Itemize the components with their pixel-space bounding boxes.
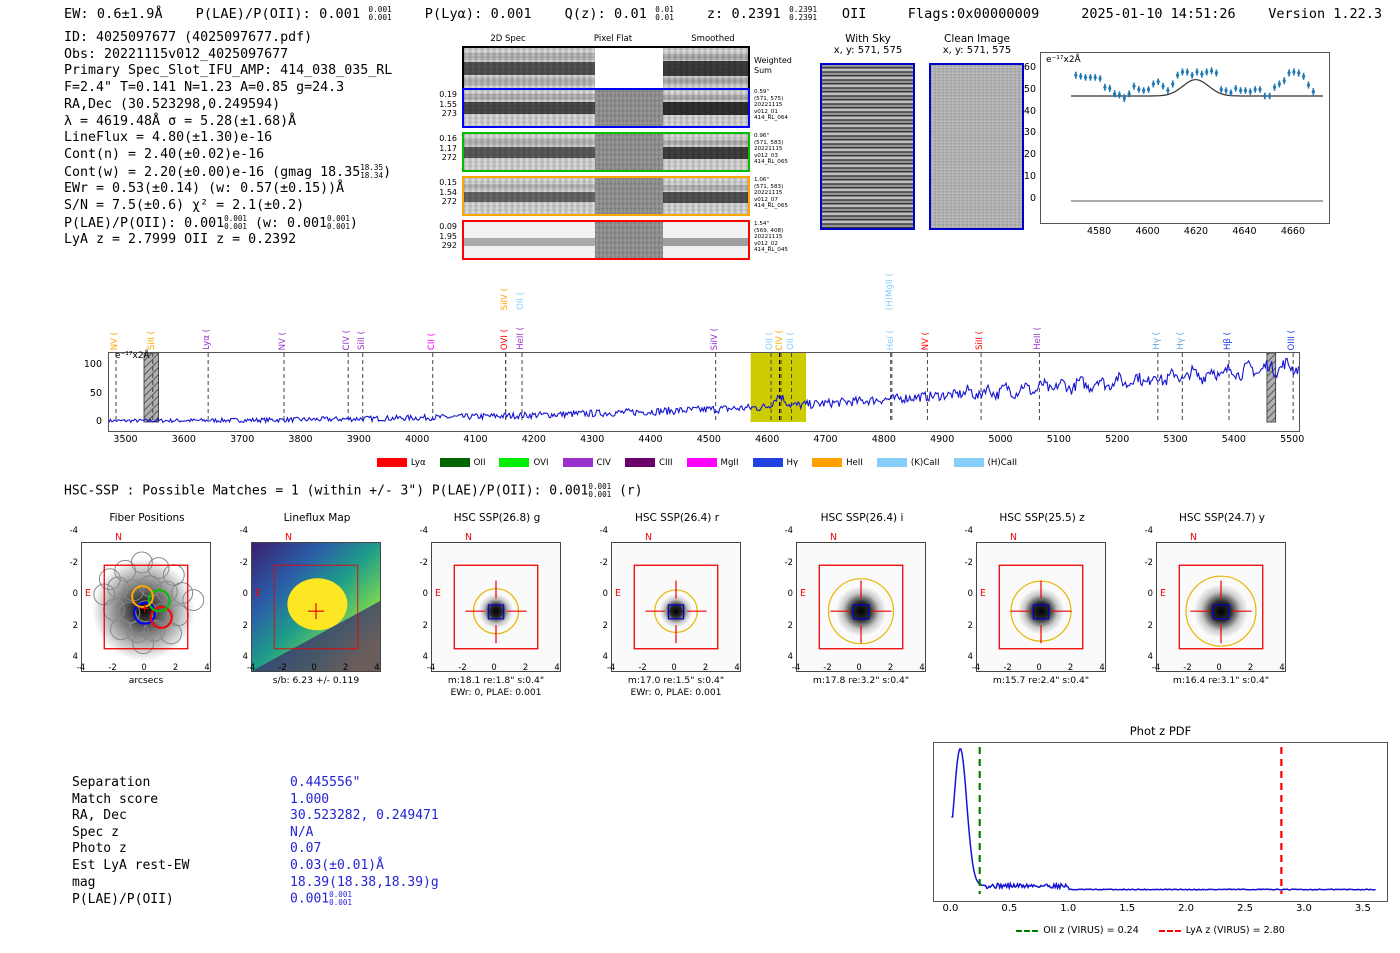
emission-line-label: Hγ ( bbox=[1176, 332, 1186, 350]
cutout-title: Lineflux Map bbox=[242, 512, 392, 524]
match-table-key: mag bbox=[72, 875, 290, 892]
inset-ytick: 0 bbox=[1030, 193, 1036, 204]
match-table-row: P(LAE)/P(OII)0.0010.0010.001 bbox=[72, 891, 439, 908]
spectrum-xtick: 5300 bbox=[1156, 434, 1196, 445]
cutout-xtick: -4 bbox=[71, 662, 91, 672]
cutout-ytick: -2 bbox=[955, 557, 973, 567]
cutout-xtick: 2 bbox=[336, 662, 356, 672]
compass-east-label: E bbox=[435, 588, 441, 599]
cutout-caption: EWr: 0, PLAE: 0.001 bbox=[590, 687, 762, 699]
compass-north-label: N bbox=[115, 532, 122, 543]
match-table-value-range: 0.0010.001 bbox=[329, 891, 352, 907]
emission-line-label: SiII ( bbox=[357, 331, 367, 350]
fiber-row: 0.15 1.54 272 1.06" (571, 583) 20221115 … bbox=[415, 176, 805, 218]
param-obs: Obs: 20221115v012_4025097677 bbox=[64, 47, 392, 64]
emission-line-label: NV ( bbox=[278, 332, 288, 350]
cutout-xtick: 2 bbox=[166, 662, 186, 672]
spectrum-xtick: 4800 bbox=[864, 434, 904, 445]
photz-legend-label: LyA z (VIRUS) = 2.80 bbox=[1186, 925, 1285, 936]
cutout-ytick: -2 bbox=[410, 557, 428, 567]
cutout-xtick: -2 bbox=[998, 662, 1018, 672]
compass-north-label: N bbox=[465, 532, 472, 543]
match-table-value: 0.07 bbox=[290, 841, 321, 856]
match-table-row: Spec zN/A bbox=[72, 825, 439, 842]
param-plae: P(LAE)/P(OII): 0.0010.0010.001 (w: 0.001… bbox=[64, 215, 392, 233]
legend-label: Lyα bbox=[411, 458, 426, 468]
compass-north-label: N bbox=[1190, 532, 1197, 543]
cutout-ytick: 4 bbox=[590, 651, 608, 661]
header-plae-label: P(LAE)/P(OII): bbox=[196, 6, 311, 22]
cutout-xtick: 4 bbox=[197, 662, 217, 672]
spectrum-ytick: 100 bbox=[84, 359, 102, 370]
param-id: ID: 4025097677 (4025097677.pdf) bbox=[64, 30, 392, 47]
cutout-xtick: 0 bbox=[1209, 662, 1229, 672]
fiber-spec-panel bbox=[462, 88, 750, 128]
cutout-xtick: -4 bbox=[241, 662, 261, 672]
fiber-row-left-labels: 0.15 1.54 272 bbox=[415, 178, 457, 207]
spectrum-xtick: 4000 bbox=[397, 434, 437, 445]
emission-line-label: HeII ( bbox=[1033, 327, 1043, 350]
legend-swatch bbox=[440, 458, 470, 467]
match-table-value: 1.000 bbox=[290, 792, 329, 807]
cutout-xtick: 2 bbox=[1061, 662, 1081, 672]
compass-east-label: E bbox=[800, 588, 806, 599]
photz-xtick: 1.5 bbox=[1111, 903, 1143, 914]
inset-xtick: 4600 bbox=[1134, 226, 1162, 237]
line-fit-inset-panel: e⁻¹⁷x2Å bbox=[1040, 52, 1330, 224]
cutout-xtick: 0 bbox=[1029, 662, 1049, 672]
emission-line-label: OIII ( bbox=[1287, 330, 1297, 350]
cutout-ytick: 2 bbox=[60, 620, 78, 630]
cutout-title: HSC SSP(26.8) g bbox=[422, 512, 572, 524]
spectrum-xtick: 4100 bbox=[456, 434, 496, 445]
spectrum-xtick: 5400 bbox=[1214, 434, 1254, 445]
inset-ytick: 10 bbox=[1024, 171, 1036, 182]
emission-line-label: (H)MgII ( bbox=[885, 273, 895, 310]
photz-legend: OII z (VIRUS) = 0.24LyA z (VIRUS) = 2.80 bbox=[933, 925, 1388, 936]
inset-ytick: 30 bbox=[1024, 127, 1036, 138]
spectrum-xtick: 3700 bbox=[222, 434, 262, 445]
cutout-xtick: 4 bbox=[912, 662, 932, 672]
cutout-ytick: 0 bbox=[230, 588, 248, 598]
param-lambda: λ = 4619.48Å σ = 5.28(±1.68)Å bbox=[64, 114, 392, 131]
col-title-smoothed: Smoothed bbox=[663, 34, 763, 44]
spectrum-line-labels: NV (SiII (Lyα (NV (CIV (SiII (CII (SiIV … bbox=[108, 275, 1300, 352]
cutout-xtick: 0 bbox=[664, 662, 684, 672]
fiber-row-right-labels: 1.06" (571, 583) 20221115 v012_07 414_RL… bbox=[754, 177, 788, 210]
with-sky-subtitle: x, y: 571, 575 bbox=[818, 45, 918, 56]
cutout-xtick: -2 bbox=[273, 662, 293, 672]
emission-line-label: HeI ( bbox=[886, 330, 896, 350]
cutout-xtick: -2 bbox=[633, 662, 653, 672]
hsc-header: HSC-SSP : Possible Matches = 1 (within +… bbox=[64, 483, 643, 499]
spectrum-legend: LyαOIIOVICIVCIIIMgIIHγHeII(K)CaII(H)CaII bbox=[108, 452, 1300, 466]
cutout-image[interactable] bbox=[431, 542, 561, 672]
legend-swatch bbox=[753, 458, 783, 467]
with-sky-image bbox=[820, 63, 915, 230]
photz-legend-swatch bbox=[1016, 930, 1038, 932]
col-title-pixelflat: Pixel Flat bbox=[558, 34, 668, 44]
header-summary-line: EW: 0.6±1.9Å P(LAE)/P(OII): 0.001 0.0010… bbox=[64, 6, 1039, 22]
cutout-ytick: -2 bbox=[60, 557, 78, 567]
header-plya: P(Lyα): 0.001 bbox=[425, 6, 532, 22]
photz-x-tick-labels: 0.00.51.01.52.02.53.03.5 bbox=[933, 903, 1388, 917]
cutout-ytick: -2 bbox=[590, 557, 608, 567]
fiber-spec-panel bbox=[462, 132, 750, 172]
cutout-ytick: -4 bbox=[955, 525, 973, 535]
compass-north-label: N bbox=[1010, 532, 1017, 543]
cutout-ytick: 0 bbox=[955, 588, 973, 598]
fiber-row: 0.09 1.95 292 1.54" (569, 408) 20221115 … bbox=[415, 220, 805, 262]
cutout-xtick: -2 bbox=[1178, 662, 1198, 672]
cutout-xtick: -2 bbox=[453, 662, 473, 672]
cutout-title: Fiber Positions bbox=[72, 512, 222, 524]
cutout-xtick: 0 bbox=[484, 662, 504, 672]
cutout-image[interactable] bbox=[796, 542, 926, 672]
cutout-title: HSC SSP(26.4) r bbox=[602, 512, 752, 524]
spectrum-xtick: 3900 bbox=[339, 434, 379, 445]
legend-swatch bbox=[687, 458, 717, 467]
weighted-sum-label: Weighted Sum bbox=[754, 56, 792, 75]
cutout-ytick: 4 bbox=[775, 651, 793, 661]
cutout-ytick: 4 bbox=[60, 651, 78, 661]
cutout-caption: m:17.0 re:1.5" s:0.4" bbox=[590, 675, 762, 687]
cutout-xtick: 0 bbox=[134, 662, 154, 672]
cutout-ytick: 2 bbox=[410, 620, 428, 630]
match-table-key: Photo z bbox=[72, 841, 290, 858]
header-z-type: OII bbox=[842, 6, 867, 22]
cutout-caption: arcsecs bbox=[60, 675, 232, 687]
cutout-ytick: 2 bbox=[955, 620, 973, 630]
emission-line-label: Hβ ( bbox=[1223, 332, 1233, 350]
inset-xtick: 4660 bbox=[1279, 226, 1307, 237]
cutout-ytick: -2 bbox=[775, 557, 793, 567]
cutout-ytick: 0 bbox=[410, 588, 428, 598]
spectrum-ytick: 0 bbox=[96, 416, 102, 427]
cutout-ytick: -4 bbox=[230, 525, 248, 535]
cutout-xtick: 2 bbox=[881, 662, 901, 672]
cutout-xtick: -4 bbox=[786, 662, 806, 672]
param-cont-w: Cont(w) = 2.20(±0.00)e-16 (gmag 18.3518.… bbox=[64, 164, 392, 182]
cutout-xtick: 0 bbox=[849, 662, 869, 672]
inset-ytick: 40 bbox=[1024, 106, 1036, 117]
emission-line-label: CII ( bbox=[427, 333, 437, 350]
fiber-row-right-labels: 0.96" (571, 583) 20221115 v012_03 414_RL… bbox=[754, 133, 788, 166]
match-table-key: Separation bbox=[72, 775, 290, 792]
match-table-value: 30.523282, 0.249471 bbox=[290, 808, 439, 823]
cutout-ytick: 4 bbox=[955, 651, 973, 661]
spectrum-xtick: 4200 bbox=[514, 434, 554, 445]
header-timestamp-version: 2025-01-10 14:51:26 Version 1.22.3 bbox=[1081, 6, 1382, 22]
cutout-caption: EWr: 0, PLAE: 0.001 bbox=[410, 687, 582, 699]
cutout-ytick: 0 bbox=[60, 588, 78, 598]
full-spectrum-plot: e⁻¹⁷x2Å bbox=[108, 352, 1300, 432]
header-z: z: 0.2391 bbox=[707, 6, 781, 22]
match-table-value: 0.445556" bbox=[290, 775, 360, 790]
cutout-panel: HSC SSP(24.7) yNE-4-4-2-2002244m:16.4 re… bbox=[1135, 512, 1320, 654]
spectrum-xtick: 4300 bbox=[572, 434, 612, 445]
cutout-panel-row: Fiber PositionsNE-4-4-2-2002244arcsecsLi… bbox=[0, 512, 1400, 727]
match-table-row: Est LyA rest-EW0.03(±0.01)Å bbox=[72, 858, 439, 875]
param-cont-n: Cont(n) = 2.40(±0.02)e-16 bbox=[64, 147, 392, 164]
fiber-row-right-labels: 0.59" (571, 575) 20221115 v012_01 414_RL… bbox=[754, 89, 788, 122]
fiber-row-left-labels: 0.09 1.95 292 bbox=[415, 222, 457, 251]
param-lineflux: LineFlux = 4.80(±1.30)e-16 bbox=[64, 130, 392, 147]
cutout-ytick: 2 bbox=[590, 620, 608, 630]
emission-line-label: HeII ( bbox=[516, 327, 526, 350]
cutout-xtick: -2 bbox=[818, 662, 838, 672]
compass-north-label: N bbox=[645, 532, 652, 543]
legend-label: CIII bbox=[659, 458, 673, 468]
spectrum-xtick: 4600 bbox=[747, 434, 787, 445]
inset-xtick: 4640 bbox=[1230, 226, 1258, 237]
spectrum-xtick: 4500 bbox=[689, 434, 729, 445]
compass-east-label: E bbox=[615, 588, 621, 599]
cutout-panel: Fiber PositionsNE-4-4-2-2002244arcsecs bbox=[60, 512, 245, 654]
emission-line-label: SiIV ( bbox=[500, 288, 510, 310]
emission-line-label: SiIV ( bbox=[710, 328, 720, 350]
cutout-ytick: -2 bbox=[230, 557, 248, 567]
cutout-ytick: 0 bbox=[775, 588, 793, 598]
inset-xtick: 4620 bbox=[1182, 226, 1210, 237]
match-table-key: Match score bbox=[72, 792, 290, 809]
cutout-ytick: 2 bbox=[230, 620, 248, 630]
fiber-row-left-labels: 0.19 1.55 273 bbox=[415, 90, 457, 119]
cutout-xtick: 4 bbox=[547, 662, 567, 672]
match-table: Separation0.445556"Match score1.000RA, D… bbox=[72, 775, 439, 908]
match-table-key: Spec z bbox=[72, 825, 290, 842]
legend-label: OVI bbox=[533, 458, 548, 468]
emission-line-label: CIV ( bbox=[342, 330, 352, 351]
cutout-caption: m:17.8 re:3.2" s:0.4" bbox=[775, 675, 947, 687]
spectrum-xtick: 3600 bbox=[164, 434, 204, 445]
header-version: Version 1.22.3 bbox=[1268, 6, 1382, 22]
legend-swatch bbox=[377, 458, 407, 467]
match-table-value: N/A bbox=[290, 825, 313, 840]
legend-label: (H)CaII bbox=[988, 458, 1018, 468]
fiber-spec-panel bbox=[462, 176, 750, 216]
photz-xtick: 2.5 bbox=[1229, 903, 1261, 914]
cutout-image[interactable] bbox=[976, 542, 1106, 672]
cutout-xtick: -4 bbox=[601, 662, 621, 672]
legend-swatch bbox=[877, 458, 907, 467]
cutout-xtick: 4 bbox=[727, 662, 747, 672]
emission-line-label: OII ( bbox=[786, 332, 796, 350]
cutout-ytick: -4 bbox=[590, 525, 608, 535]
photz-pdf-plot bbox=[933, 742, 1388, 902]
compass-east-label: E bbox=[255, 588, 261, 599]
emission-line-label: Lyα ( bbox=[202, 329, 212, 350]
fiber-row: 0.19 1.55 273 0.59" (571, 575) 20221115 … bbox=[415, 88, 805, 130]
legend-swatch bbox=[625, 458, 655, 467]
spectrum-xtick: 5500 bbox=[1272, 434, 1312, 445]
photz-xtick: 0.0 bbox=[934, 903, 966, 914]
cutout-ytick: 2 bbox=[1135, 620, 1153, 630]
cutout-panel: HSC SSP(26.4) iNE-4-4-2-2002244m:17.8 re… bbox=[775, 512, 960, 654]
match-table-key: RA, Dec bbox=[72, 808, 290, 825]
emission-line-label: OII ( bbox=[765, 332, 775, 350]
legend-label: OII bbox=[474, 458, 486, 468]
compass-east-label: E bbox=[1160, 588, 1166, 599]
compass-north-label: N bbox=[830, 532, 837, 543]
cutout-xtick: 2 bbox=[1241, 662, 1261, 672]
cutout-xtick: -2 bbox=[103, 662, 123, 672]
spectrum-xtick: 4700 bbox=[806, 434, 846, 445]
cutout-title: HSC SSP(24.7) y bbox=[1147, 512, 1297, 524]
header-ew: EW: 0.6±1.9Å bbox=[64, 6, 163, 22]
cutout-ytick: 4 bbox=[230, 651, 248, 661]
cutout-image[interactable] bbox=[81, 542, 211, 672]
cutout-image[interactable] bbox=[611, 542, 741, 672]
match-table-value: 0.001 bbox=[290, 892, 329, 907]
inset-ytick: 20 bbox=[1024, 149, 1036, 160]
param-redshifts: LyA z = 2.7999 OII z = 0.2392 bbox=[64, 232, 392, 249]
line-fit-inset-plot bbox=[1041, 53, 1329, 223]
header-datetime: 2025-01-10 14:51:26 bbox=[1081, 6, 1235, 22]
cutout-caption: s/b: 6.23 +/- 0.119 bbox=[230, 675, 402, 687]
cutout-ytick: -2 bbox=[1135, 557, 1153, 567]
inset-ytick: 60 bbox=[1024, 62, 1036, 73]
fiber-spec-panel bbox=[462, 220, 750, 260]
photz-xtick: 1.0 bbox=[1052, 903, 1084, 914]
legend-label: MgII bbox=[721, 458, 739, 468]
cutout-ytick: 0 bbox=[590, 588, 608, 598]
cutout-xtick: -4 bbox=[421, 662, 441, 672]
with-sky-title: With Sky bbox=[818, 33, 918, 45]
spectrum-xtick: 5200 bbox=[1097, 434, 1137, 445]
clean-image-title: Clean Image bbox=[927, 33, 1027, 45]
match-table-key: P(LAE)/P(OII) bbox=[72, 892, 290, 909]
photz-xtick: 3.0 bbox=[1288, 903, 1320, 914]
spectrum-xtick: 5000 bbox=[981, 434, 1021, 445]
cutout-ytick: -4 bbox=[775, 525, 793, 535]
photz-xtick: 0.5 bbox=[993, 903, 1025, 914]
emission-line-label: Hγ ( bbox=[1152, 332, 1162, 350]
compass-east-label: E bbox=[980, 588, 986, 599]
cutout-xtick: 2 bbox=[696, 662, 716, 672]
cutout-xtick: -4 bbox=[966, 662, 986, 672]
inset-xtick: 4580 bbox=[1085, 226, 1113, 237]
spectrum-xtick: 3800 bbox=[281, 434, 321, 445]
cutout-ytick: 2 bbox=[775, 620, 793, 630]
cutout-ytick: 4 bbox=[410, 651, 428, 661]
photz-title: Phot z PDF bbox=[933, 724, 1388, 738]
parameter-block: ID: 4025097677 (4025097677.pdf) Obs: 202… bbox=[64, 30, 392, 249]
cutout-image[interactable] bbox=[1156, 542, 1286, 672]
cutout-xtick: 2 bbox=[516, 662, 536, 672]
emission-line-label: SiII ( bbox=[147, 331, 157, 350]
match-table-value: 18.39(18.38,18.39)g bbox=[290, 875, 439, 890]
weighted-sum-panel bbox=[462, 46, 750, 91]
emission-line-label: CIV ( bbox=[775, 330, 785, 351]
spectrum-xtick: 5100 bbox=[1039, 434, 1079, 445]
match-table-row: Match score1.000 bbox=[72, 792, 439, 809]
cutout-ytick: 0 bbox=[1135, 588, 1153, 598]
cutout-panel: HSC SSP(26.4) rNE-4-4-2-2002244m:17.0 re… bbox=[590, 512, 775, 654]
spectrum-x-tick-labels: 3500360037003800390040004100420043004400… bbox=[108, 434, 1300, 448]
legend-swatch bbox=[954, 458, 984, 467]
cutout-ytick: 4 bbox=[1135, 651, 1153, 661]
fiber-row: 0.16 1.17 272 0.96" (571, 583) 20221115 … bbox=[415, 132, 805, 174]
cutout-title: HSC SSP(26.4) i bbox=[787, 512, 937, 524]
cutout-panel: HSC SSP(25.5) zNE-4-4-2-2002244m:15.7 re… bbox=[955, 512, 1140, 654]
match-table-row: mag18.39(18.38,18.39)g bbox=[72, 875, 439, 892]
spectrum-xtick: 3500 bbox=[106, 434, 146, 445]
cutout-xtick: 4 bbox=[1272, 662, 1292, 672]
photz-legend-label: OII z (VIRUS) = 0.24 bbox=[1043, 925, 1139, 936]
header-plae-value: 0.001 bbox=[319, 6, 360, 22]
param-slot: Primary Spec_Slot_IFU_AMP: 414_038_035_R… bbox=[64, 63, 392, 80]
emission-line-label: NV ( bbox=[921, 332, 931, 350]
cutout-panel: HSC SSP(26.8) gNE-4-4-2-2002244m:18.1 re… bbox=[410, 512, 595, 654]
cutout-xtick: 4 bbox=[1092, 662, 1112, 672]
inset-y-tick-labels: 0102030405060 bbox=[1012, 52, 1038, 224]
cutout-ytick: -4 bbox=[1135, 525, 1153, 535]
match-table-row: RA, Dec30.523282, 0.249471 bbox=[72, 808, 439, 825]
cutout-ytick: -4 bbox=[410, 525, 428, 535]
param-ewr: EWr = 0.53(±0.14) (w: 0.57(±0.15))Å bbox=[64, 181, 392, 198]
param-radec: RA,Dec (30.523298,0.249594) bbox=[64, 97, 392, 114]
with-sky-panel: With Sky x, y: 571, 575 bbox=[818, 33, 918, 56]
emission-line-label: OVI ( bbox=[500, 329, 510, 350]
compass-north-label: N bbox=[285, 532, 292, 543]
cutout-caption: m:18.1 re:1.8" s:0.4" bbox=[410, 675, 582, 687]
param-sn: S/N = 7.5(±0.6) χ² = 2.1(±0.2) bbox=[64, 198, 392, 215]
spectrum-ytick: 50 bbox=[90, 388, 102, 399]
fiber-row-left-labels: 0.16 1.17 272 bbox=[415, 134, 457, 163]
cutout-image[interactable] bbox=[251, 542, 381, 672]
cutout-panel: Lineflux MapNE-4-4-2-2002244s/b: 6.23 +/… bbox=[230, 512, 415, 654]
spectrum-y-tick-labels: 050100 bbox=[76, 352, 106, 432]
spectrum-xtick: 4900 bbox=[922, 434, 962, 445]
match-table-value: 0.03(±0.01)Å bbox=[290, 858, 384, 873]
legend-label: (K)CaII bbox=[911, 458, 940, 468]
cutout-caption: m:16.4 re:3.1" s:0.4" bbox=[1135, 675, 1307, 687]
clean-image-image bbox=[929, 63, 1024, 230]
match-table-key: Est LyA rest-EW bbox=[72, 858, 290, 875]
match-table-row: Photo z0.07 bbox=[72, 841, 439, 858]
inset-ytick: 50 bbox=[1024, 84, 1036, 95]
emission-line-label: OII ( bbox=[516, 292, 526, 310]
fiber-row-right-labels: 1.54" (569, 408) 20221115 v012_02 414_RL… bbox=[754, 221, 788, 254]
photz-xtick: 2.0 bbox=[1170, 903, 1202, 914]
spectrum-flux-annotation: e⁻¹⁷x2Å bbox=[115, 351, 150, 361]
legend-swatch bbox=[563, 458, 593, 467]
legend-label: CIV bbox=[597, 458, 611, 468]
legend-swatch bbox=[812, 458, 842, 467]
photz-xtick: 3.5 bbox=[1347, 903, 1379, 914]
cutout-title: HSC SSP(25.5) z bbox=[967, 512, 1117, 524]
legend-swatch bbox=[499, 458, 529, 467]
match-table-row: Separation0.445556" bbox=[72, 775, 439, 792]
param-seeing: F=2.4" T=0.141 N=1.23 A=0.85 g=24.3 bbox=[64, 80, 392, 97]
header-qz: Q(z): 0.01 bbox=[565, 6, 647, 22]
emission-line-label: NV ( bbox=[110, 332, 120, 350]
emission-line-label: SiII ( bbox=[975, 331, 985, 350]
cutout-xtick: -4 bbox=[1146, 662, 1166, 672]
col-title-2dspec: 2D Spec bbox=[458, 34, 558, 44]
header-flags: Flags:0x00000009 bbox=[908, 6, 1040, 22]
photz-legend-swatch bbox=[1159, 930, 1181, 932]
legend-label: HeII bbox=[846, 458, 863, 468]
compass-east-label: E bbox=[85, 588, 91, 599]
spectrum-xtick: 4400 bbox=[631, 434, 671, 445]
cutout-xtick: 4 bbox=[367, 662, 387, 672]
cutout-ytick: -4 bbox=[60, 525, 78, 535]
legend-label: Hγ bbox=[787, 458, 799, 468]
inset-x-tick-labels: 45804600462046404660 bbox=[1040, 226, 1330, 240]
cutout-caption: m:15.7 re:2.4" s:0.4" bbox=[955, 675, 1127, 687]
